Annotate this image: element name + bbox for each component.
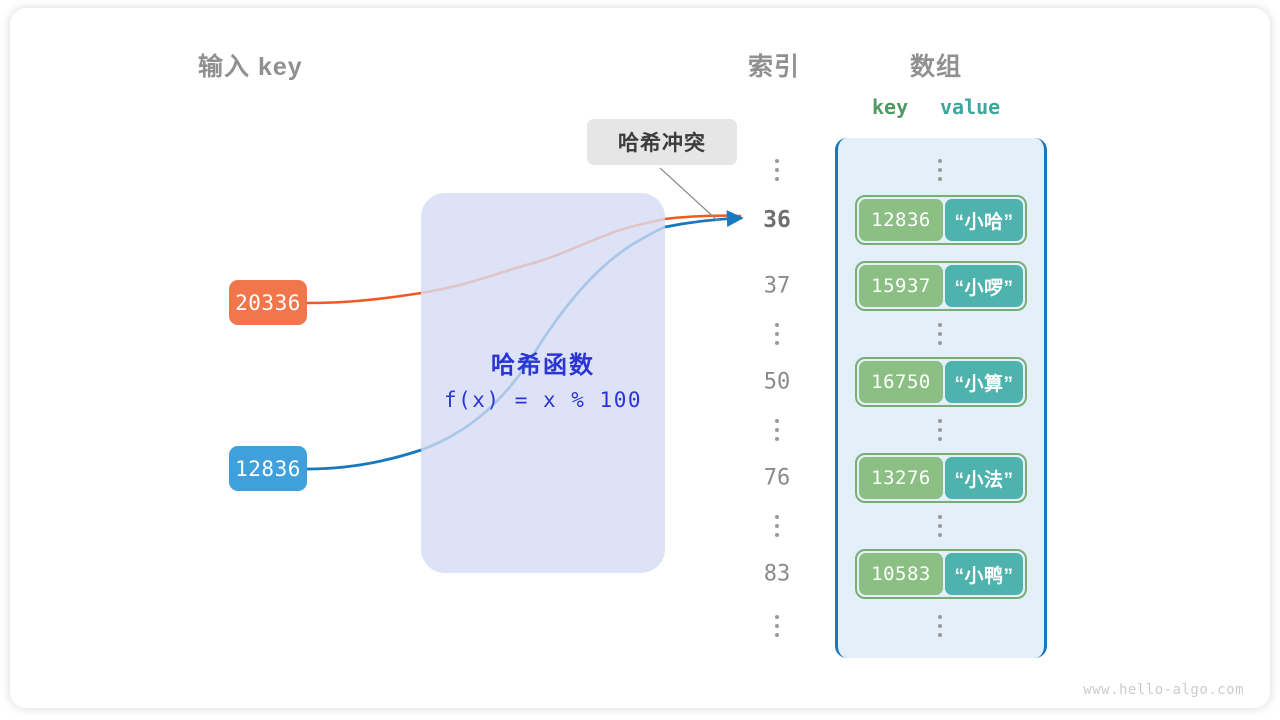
heading-input-key: 输入 key [198,47,303,83]
array-ellipsis [938,159,942,181]
index-ellipsis [775,323,779,345]
hash-function-box: 哈希函数 f(x) = x % 100 [421,193,665,573]
hash-function-title: 哈希函数 [421,345,665,380]
hash-function-formula: f(x) = x % 100 [421,388,665,412]
index-label-76: 76 [744,466,810,491]
cell-value: “小哈” [945,199,1023,241]
array-ellipsis [938,615,942,637]
index-ellipsis [775,419,779,441]
heading-index: 索引 [748,47,800,83]
index-label-37: 37 [744,274,810,299]
table-row: 10583 “小鸭” [855,549,1027,599]
index-label-83: 83 [744,562,810,587]
index-ellipsis [775,515,779,537]
cell-key: 15937 [859,265,943,307]
index-label-50: 50 [744,370,810,395]
cell-key: 13276 [859,457,943,499]
watermark: www.hello-algo.com [1083,682,1244,698]
heading-key-column: key [872,95,908,119]
input-key-box-12836: 12836 [229,446,307,491]
cell-key: 10583 [859,553,943,595]
index-label-36: 36 [744,207,810,233]
diagram-canvas: 输入 key 索引 数组 key value 哈希冲突 20336 12836 … [0,0,1280,720]
hash-collision-callout: 哈希冲突 [587,119,737,165]
cell-value: “小啰” [945,265,1023,307]
table-row: 13276 “小法” [855,453,1027,503]
table-row: 16750 “小算” [855,357,1027,407]
array-ellipsis [938,515,942,537]
table-row: 15937 “小啰” [855,261,1027,311]
array-ellipsis [938,323,942,345]
index-ellipsis [775,159,779,181]
cell-key: 16750 [859,361,943,403]
heading-value-column: value [940,95,1000,119]
cell-value: “小算” [945,361,1023,403]
array-ellipsis [938,419,942,441]
input-key-box-20336: 20336 [229,280,307,325]
table-row: 12836 “小哈” [855,195,1027,245]
index-ellipsis [775,615,779,637]
cell-value: “小鸭” [945,553,1023,595]
heading-array: 数组 [910,47,962,83]
cell-key: 12836 [859,199,943,241]
cell-value: “小法” [945,457,1023,499]
